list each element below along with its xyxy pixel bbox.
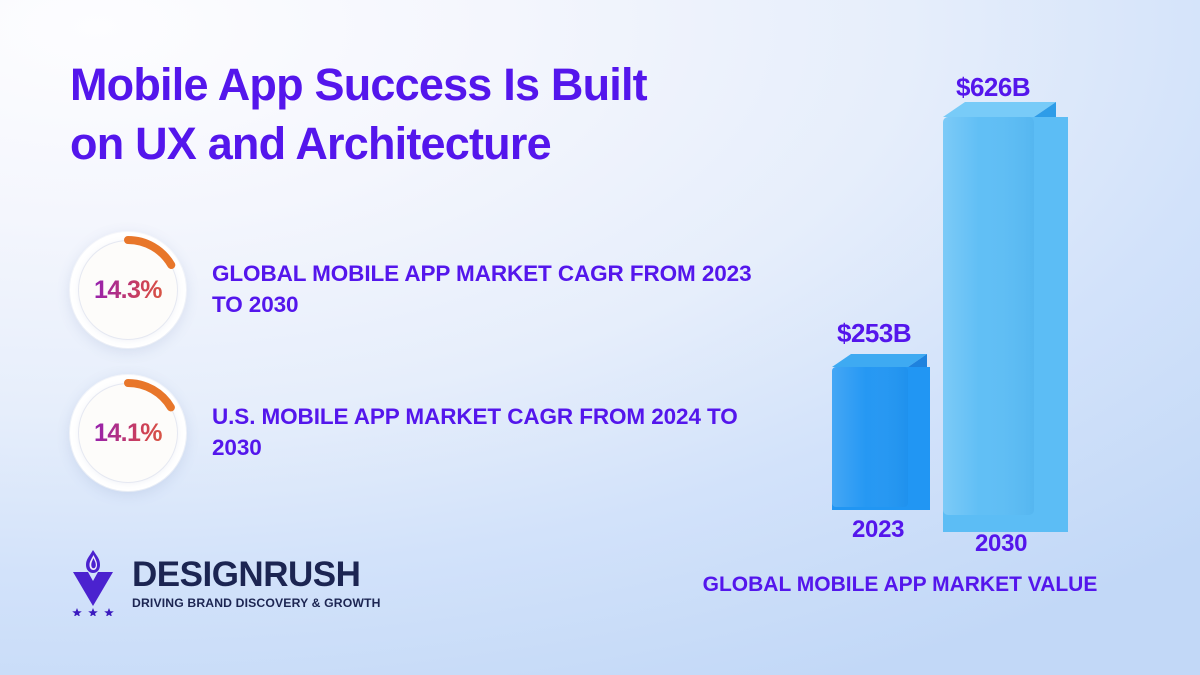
logo-tagline: DRIVING BRAND DISCOVERY & GROWTH bbox=[132, 597, 381, 609]
stat-value: 14.1% bbox=[70, 375, 186, 491]
logo-text-block: DESIGNRUSH DRIVING BRAND DISCOVERY & GRO… bbox=[132, 557, 381, 609]
donut-chart-14-3: 14.3% bbox=[70, 232, 186, 348]
bar-category-2030: 2030 bbox=[975, 530, 1027, 558]
stat-row-global-cagr: 14.3% GLOBAL MOBILE APP MARKET CAGR FROM… bbox=[70, 232, 752, 348]
stat-row-us-cagr: 14.1% U.S. MOBILE APP MARKET CAGR FROM 2… bbox=[70, 375, 752, 491]
flame-chevron-icon bbox=[64, 546, 122, 621]
chart-caption: GLOBAL MOBILE APP MARKET VALUE bbox=[640, 573, 1160, 597]
stat-value: 14.3% bbox=[70, 232, 186, 348]
stat-label: GLOBAL MOBILE APP MARKET CAGR FROM 2023 … bbox=[212, 259, 752, 321]
bar-2030 bbox=[938, 82, 1068, 532]
logo-name: DESIGNRUSH bbox=[132, 557, 381, 592]
donut-chart-14-1: 14.1% bbox=[70, 375, 186, 491]
bar-chart: $253B 202 bbox=[790, 30, 1120, 570]
designrush-logo[interactable]: DESIGNRUSH DRIVING BRAND DISCOVERY & GRO… bbox=[64, 546, 381, 621]
bar-2023 bbox=[828, 336, 930, 510]
bar-2023-shape bbox=[828, 336, 930, 510]
bar-category-2023: 2023 bbox=[852, 516, 904, 544]
infographic-canvas: Mobile App Success Is Built on UX and Ar… bbox=[0, 0, 1200, 675]
bar-2030-shape bbox=[938, 82, 1068, 532]
page-title: Mobile App Success Is Built on UX and Ar… bbox=[70, 55, 790, 174]
stat-label: U.S. MOBILE APP MARKET CAGR FROM 2024 TO… bbox=[212, 402, 752, 464]
